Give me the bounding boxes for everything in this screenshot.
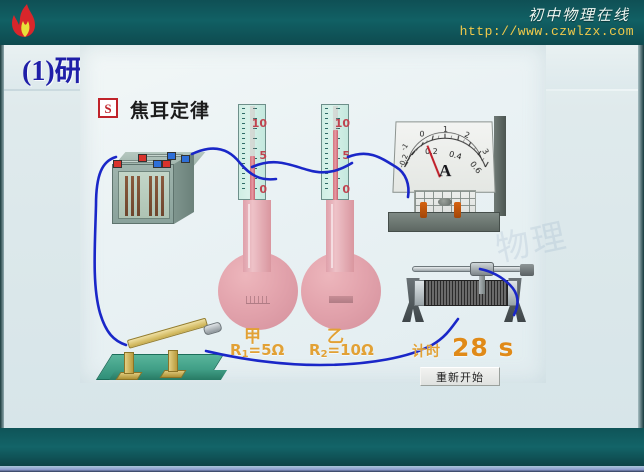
footer-band [0, 428, 644, 466]
wire-flask2-to-ammeter [348, 154, 409, 197]
wire-battery-to-switch [95, 157, 126, 345]
wire-rheostat-to-ammeter [480, 269, 517, 315]
brand-name: 初中物理在线 [528, 4, 630, 25]
footer-edge [0, 466, 644, 472]
right-bezel [638, 45, 644, 428]
restart-button[interactable]: 重新开始 [420, 367, 500, 386]
slide-stage: 初中物理在线 http://www.czwlzx.com (1)研究电阻大小对产… [0, 0, 644, 472]
flame-icon [8, 3, 42, 41]
timer-value: 28 s [452, 333, 514, 362]
timer-label: 计时 [412, 341, 440, 361]
brand-url: http://www.czwlzx.com [460, 24, 634, 39]
wire-flask1-to-flask2 [252, 162, 352, 172]
brand-header: 初中物理在线 http://www.czwlzx.com [0, 0, 644, 45]
brand-text-group: 初中物理在线 http://www.czwlzx.com [438, 0, 638, 45]
